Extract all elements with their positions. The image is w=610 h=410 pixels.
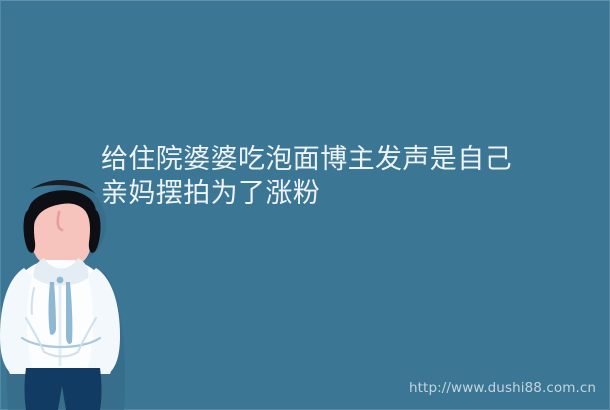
- hood-eyelet: [57, 277, 64, 284]
- page-title: 给住院婆婆吃泡面博主发声是自己 亲妈摆拍为了涨粉: [101, 143, 601, 211]
- headline-line-1: 给住院婆婆吃泡面博主发声是自己: [101, 143, 601, 177]
- headline-line-2: 亲妈摆拍为了涨粉: [101, 177, 601, 211]
- person-illustration: [0, 176, 130, 410]
- site-watermark: http://www.dushi88.com.cn: [409, 379, 596, 397]
- hoodie-person-icon: [0, 176, 130, 410]
- article-banner: 给住院婆婆吃泡面博主发声是自己 亲妈摆拍为了涨粉 http://www.dush…: [0, 0, 610, 410]
